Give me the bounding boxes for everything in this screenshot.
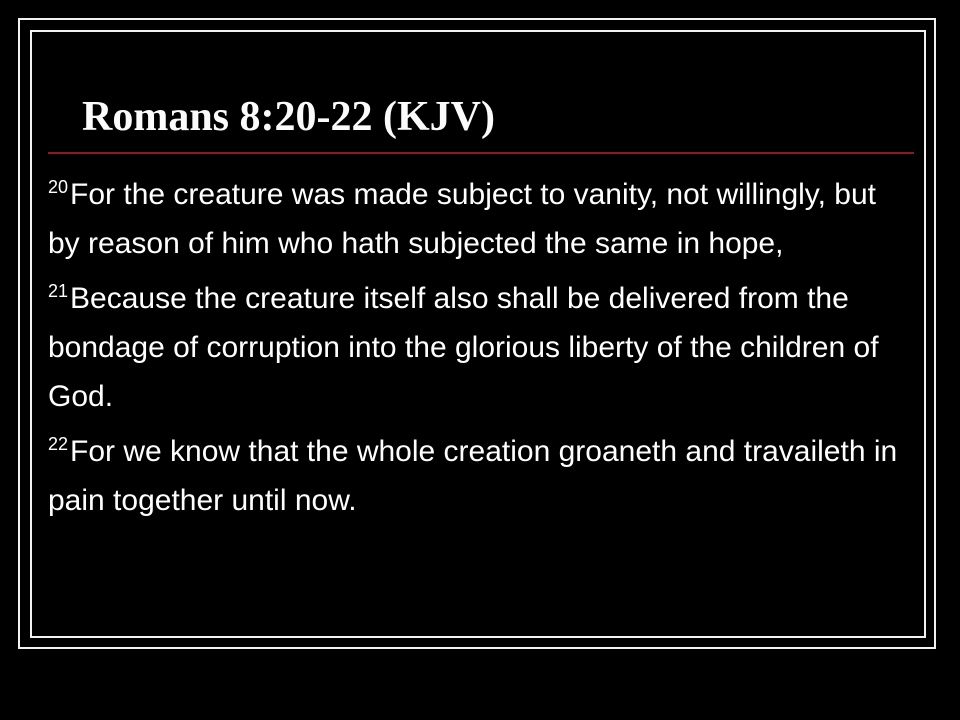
verse-paragraph: 20For the creature was made subject to v… (48, 170, 914, 268)
verse-number: 21 (48, 281, 70, 301)
verse-text: For we know that the whole creation groa… (48, 435, 897, 517)
verse-list: 20For the creature was made subject to v… (48, 170, 914, 525)
verse-paragraph: 21Because the creature itself also shall… (48, 274, 914, 421)
verse-text: For the creature was made subject to van… (48, 178, 876, 260)
slide: Romans 8:20-22 (KJV) 20For the creature … (0, 0, 960, 720)
verse-text: Because the creature itself also shall b… (48, 282, 879, 413)
verse-number: 22 (48, 434, 70, 454)
title-divider-rule (48, 152, 914, 154)
verse-paragraph: 22For we know that the whole creation gr… (48, 427, 914, 525)
page-title: Romans 8:20-22 (KJV) (82, 92, 914, 142)
slide-content: Romans 8:20-22 (KJV) 20For the creature … (48, 92, 914, 525)
verse-number: 20 (48, 177, 70, 197)
